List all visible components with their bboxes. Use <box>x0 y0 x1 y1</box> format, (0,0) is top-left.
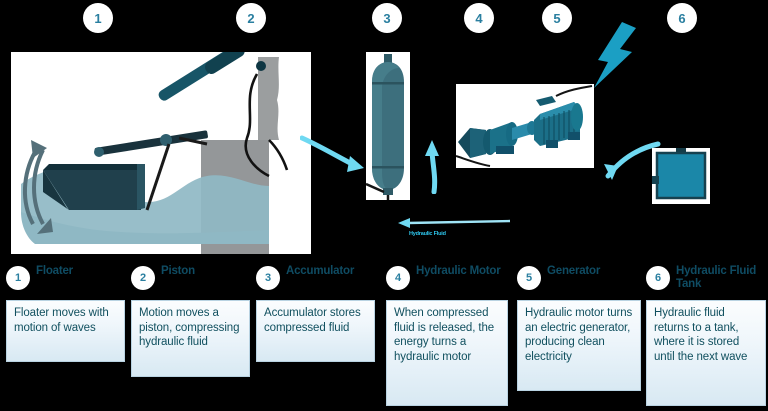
step-2-number-label: 2 <box>140 273 146 284</box>
flow-arrow-to-accumulator <box>300 134 368 178</box>
connecting-arm <box>94 130 208 157</box>
step-2-title: Piston <box>161 265 253 278</box>
step-6-header: 6 Hydraulic Fluid Tank <box>646 266 766 296</box>
hydraulic-motor-generator-illustration <box>456 84 594 168</box>
drive-shaft <box>512 121 537 140</box>
step-5-number: 5 <box>517 266 541 290</box>
top-marker-2: 2 <box>236 3 266 33</box>
generator-terminal-box <box>536 96 556 106</box>
step-3-number-label: 3 <box>265 273 271 284</box>
top-marker-1-label: 1 <box>94 12 101 25</box>
power-cable <box>556 86 592 96</box>
step-3-title: Accumulator <box>286 265 378 278</box>
step-column-1: 1 Floater Floater moves with motion of w… <box>6 266 125 296</box>
step-column-5: 5 Generator Hydraulic motor turns an ele… <box>517 266 641 296</box>
accumulator-drawing <box>366 52 410 200</box>
step-4-description: When compressed fluid is released, the e… <box>386 300 508 406</box>
top-marker-5-label: 5 <box>553 12 560 25</box>
top-marker-3-label: 3 <box>383 12 390 25</box>
top-marker-4: 4 <box>464 3 494 33</box>
accumulator-seam-bottom <box>372 166 404 169</box>
step-1-title: Floater <box>36 265 128 278</box>
step-6-title: Hydraulic Fluid Tank <box>676 265 768 291</box>
step-5-number-label: 5 <box>526 273 532 284</box>
step-1-description: Floater moves with motion of waves <box>6 300 125 362</box>
step-5-header: 5 Generator <box>517 266 641 296</box>
step-column-3: 3 Accumulator Accumulator stores compres… <box>256 266 375 296</box>
return-cable <box>456 156 490 166</box>
top-marker-1: 1 <box>83 3 113 33</box>
top-marker-6: 6 <box>667 3 697 33</box>
generator-foot-a <box>546 140 558 148</box>
step-5-title: Generator <box>547 265 639 278</box>
step-1-number-label: 1 <box>15 273 21 284</box>
hydraulic-fluid-flow-label: Hydraulic Fluid <box>409 231 446 237</box>
lightning-bolt-icon <box>592 22 642 88</box>
step-column-2: 2 Piston Motion moves a piston, compress… <box>131 266 250 296</box>
hydraulic-fluid-tank-illustration <box>652 148 710 204</box>
accumulator-illustration <box>366 52 410 200</box>
hydraulic-motor-unit <box>458 122 518 158</box>
step-3-header: 3 Accumulator <box>256 266 375 296</box>
step-3-description: Accumulator stores compressed fluid <box>256 300 375 362</box>
top-marker-5: 5 <box>542 3 572 33</box>
step-column-6: 6 Hydraulic Fluid Tank Hydraulic fluid r… <box>646 266 766 296</box>
step-4-number-label: 4 <box>395 273 401 284</box>
step-6-description: Hydraulic fluid returns to a tank, where… <box>646 300 766 406</box>
step-4-number: 4 <box>386 266 410 290</box>
step-6-number-label: 6 <box>655 273 661 284</box>
step-1-header: 1 Floater <box>6 266 125 296</box>
tank-side-port <box>652 176 659 184</box>
electric-generator-unit <box>534 96 583 148</box>
step-4-title: Hydraulic Motor <box>416 265 508 278</box>
top-marker-3: 3 <box>372 3 402 33</box>
step-2-description: Motion moves a piston, compressing hydra… <box>131 300 250 377</box>
wave-energy-converter-illustration <box>11 52 311 254</box>
wave-converter-drawing <box>11 52 311 254</box>
top-marker-6-label: 6 <box>678 12 685 25</box>
diagram-canvas: 1 2 3 4 5 6 <box>0 0 768 411</box>
step-4-header: 4 Hydraulic Motor <box>386 266 508 296</box>
hydraulic-fluid-return-arrow <box>398 216 514 230</box>
accumulator-bottom-port <box>383 188 393 195</box>
generator-foot-b <box>568 132 580 140</box>
step-3-number: 3 <box>256 266 280 290</box>
step-column-4: 4 Hydraulic Motor When compressed fluid … <box>386 266 508 296</box>
step-1-number: 1 <box>6 266 30 290</box>
step-2-number: 2 <box>131 266 155 290</box>
flow-arrow-to-motor <box>424 138 444 194</box>
top-marker-2-label: 2 <box>247 12 254 25</box>
cable-lower <box>269 140 287 170</box>
step-5-description: Hydraulic motor turns an electric genera… <box>517 300 641 391</box>
motor-generator-drawing <box>456 84 594 168</box>
step-2-header: 2 Piston <box>131 266 250 296</box>
top-marker-4-label: 4 <box>475 12 482 25</box>
tank-drawing <box>652 148 710 204</box>
step-6-number: 6 <box>646 266 670 290</box>
accumulator-seam-top <box>372 82 404 85</box>
tank-body <box>657 153 705 198</box>
